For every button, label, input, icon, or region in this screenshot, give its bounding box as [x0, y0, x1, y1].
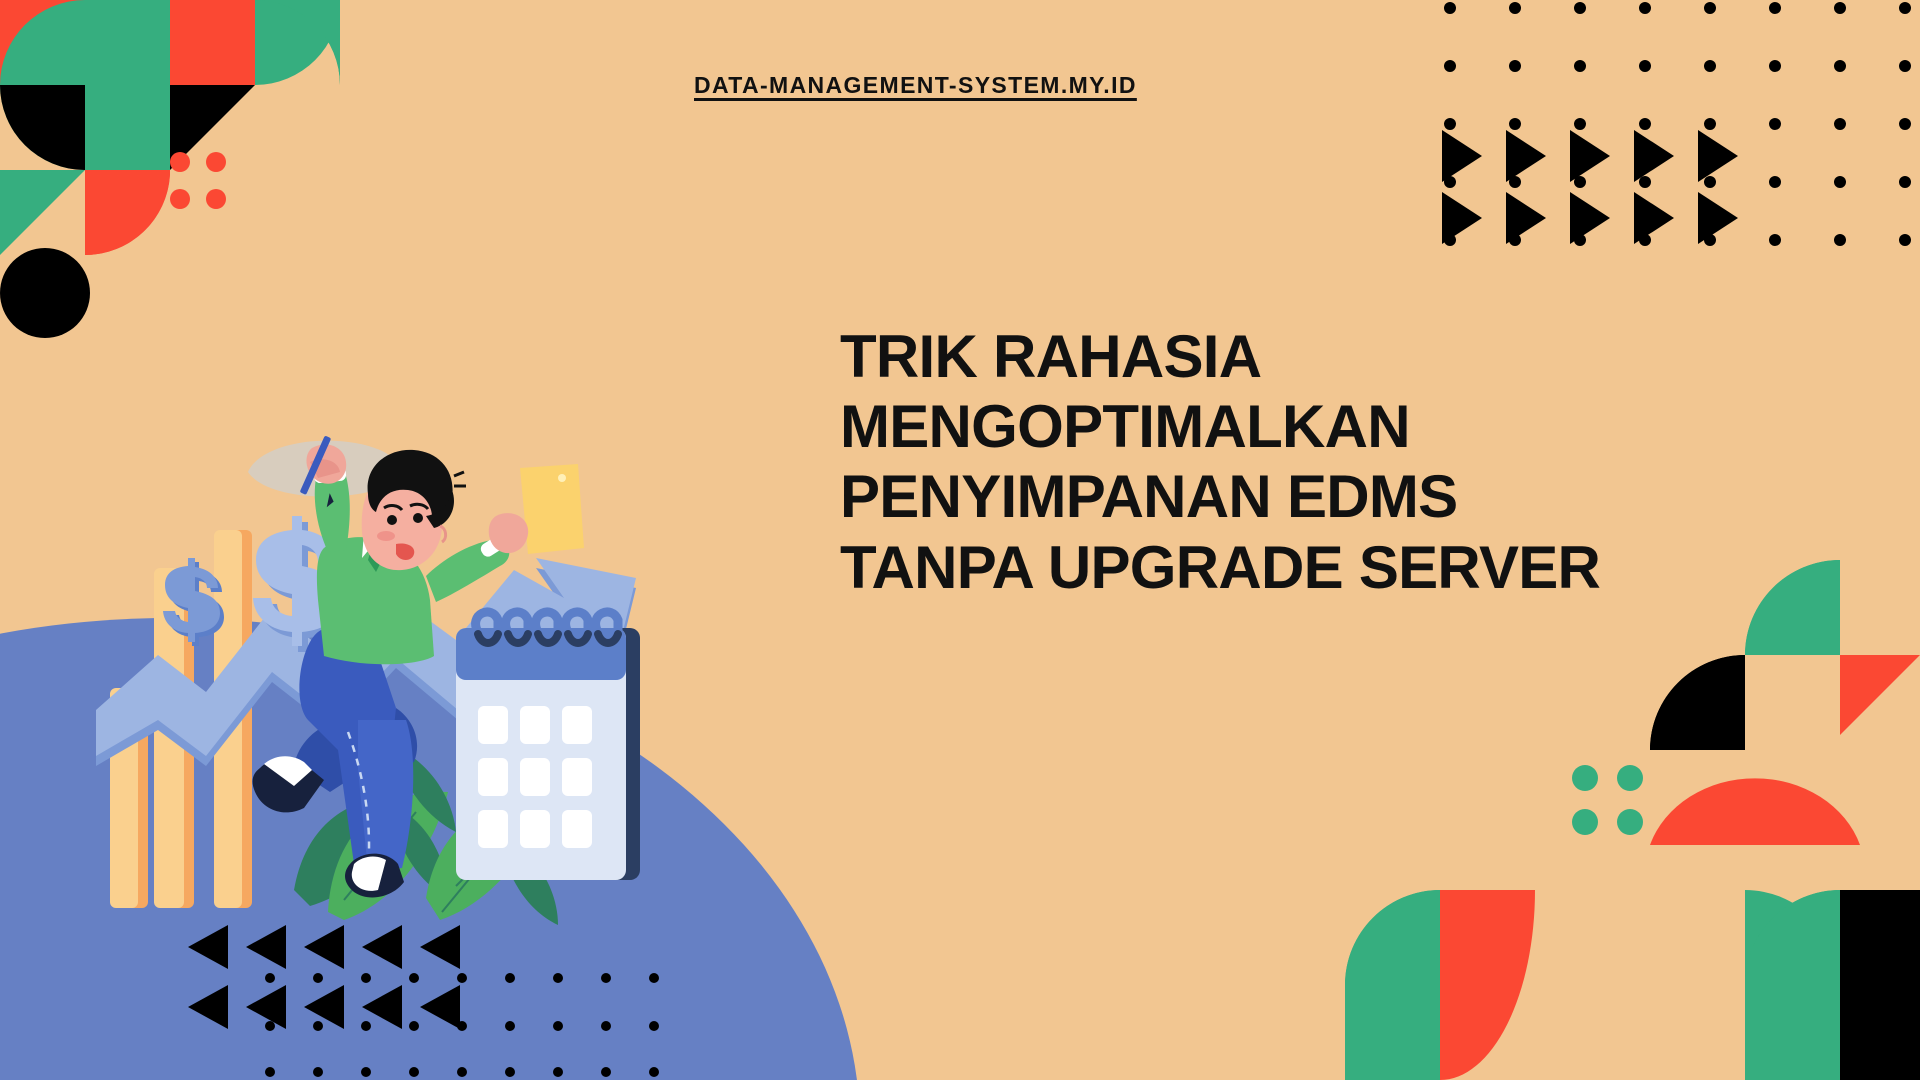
green-dot [1572, 765, 1598, 791]
site-url-link[interactable]: DATA-MANAGEMENT-SYSTEM.MY.ID [694, 72, 1137, 99]
red-square [170, 0, 255, 85]
bottom-right-geometric-decoration [1260, 560, 1920, 1080]
page-title-line-3: PENYIMPANAN EDMS [840, 462, 1770, 532]
page-title: TRIK RAHASIA MENGOPTIMALKAN PENYIMPANAN … [840, 322, 1770, 603]
right-triangle-group [1442, 130, 1738, 244]
bottom-left-dot-grid [170, 905, 670, 1080]
red-triangle [1840, 655, 1920, 735]
page-title-line-2: MENGOPTIMALKAN [840, 392, 1770, 462]
red-dot [206, 152, 226, 172]
red-quarter-circle [1440, 890, 1535, 1080]
red-half-circle [1650, 778, 1860, 845]
black-square [1840, 890, 1920, 1080]
yellow-document [520, 464, 584, 554]
left-triangle-group [188, 925, 460, 1029]
green-dot [1617, 765, 1643, 791]
green-dot [1572, 809, 1598, 835]
business-growth-illustration [96, 420, 696, 930]
red-dot [170, 152, 190, 172]
red-dot [206, 189, 226, 209]
black-quarter-circle [0, 85, 85, 170]
green-dot [1617, 809, 1643, 835]
poster-canvas: DATA-MANAGEMENT-SYSTEM.MY.ID TRIK RAHASI… [0, 0, 1920, 1080]
green-triangle [0, 170, 85, 255]
person-head [362, 450, 466, 570]
red-dot [170, 189, 190, 209]
top-left-geometric-decoration [0, 0, 360, 360]
black-circle [0, 248, 90, 338]
calendar-day-cells [478, 706, 592, 848]
calendar [456, 612, 640, 880]
page-title-line-1: TRIK RAHASIA [840, 322, 1770, 392]
top-right-dot-grid [1420, 0, 1920, 290]
page-title-line-4: TANPA UPGRADE SERVER [840, 533, 1770, 603]
